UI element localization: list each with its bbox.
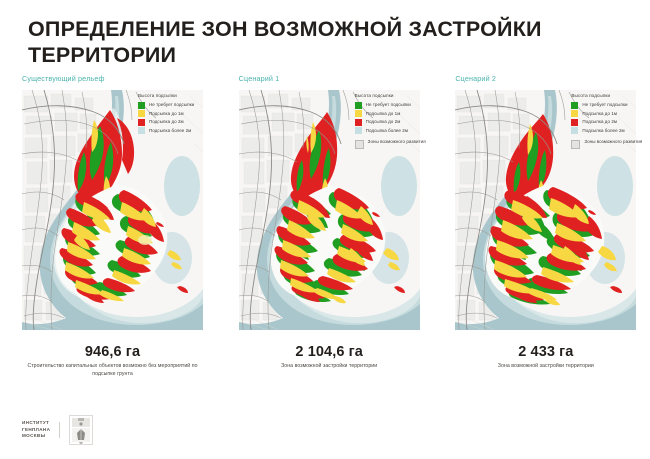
- legend-item-dev-zone: Зоны возможного развития: [355, 139, 447, 149]
- legend-item: Подсыпка более 2м: [355, 127, 447, 134]
- legend-swatch-over-2m: [571, 127, 578, 134]
- panel-caption: 2 433 га Зона возможной застройки террит…: [455, 344, 636, 371]
- page-title: ОПРЕДЕЛЕНИЕ ЗОН ВОЗМОЖНОЙ ЗАСТРОЙКИ ТЕРР…: [28, 16, 618, 68]
- map-legend: Высота подсыпки Не требует подсыпки Подс…: [355, 93, 447, 150]
- panel-label: Сценарий 1: [239, 74, 434, 84]
- panels-row: Существующий рельеф: [0, 74, 650, 378]
- legend-swatch-no-fill: [138, 102, 145, 109]
- legend-label: Не требует подсыпки: [582, 102, 627, 108]
- panel-label: Существующий рельеф: [22, 74, 217, 84]
- legend-title: Высота подсыпки: [571, 93, 650, 98]
- legend-label: Не требует подсыпки: [366, 102, 411, 108]
- legend-swatch-dev-zone: [355, 140, 364, 149]
- legend-swatch-up-to-2m: [138, 119, 145, 126]
- legend-item: Подсыпка до 2м: [355, 119, 447, 126]
- map-legend: Высота подсыпки Не требует подсыпки Подс…: [138, 93, 230, 136]
- legend-label: Подсыпка до 1м: [366, 111, 401, 117]
- area-value: 2 433 га: [455, 344, 636, 360]
- footer: ИНСТИТУТ ГЕНПЛАНА МОСКВЫ: [22, 415, 93, 445]
- moscow-coat-of-arms-icon: [69, 415, 93, 445]
- legend-item: Подсыпка до 1м: [355, 110, 447, 117]
- panel-existing-relief: Существующий рельеф: [22, 74, 217, 378]
- legend-label: Подсыпка до 2м: [582, 119, 617, 125]
- institute-wordmark: ИНСТИТУТ ГЕНПЛАНА МОСКВЫ: [22, 420, 50, 441]
- area-description: Зона возможной застройки территории: [239, 363, 420, 371]
- legend-swatch-no-fill: [571, 102, 578, 109]
- legend-label: Не требует подсыпки: [149, 102, 194, 108]
- panel-caption: 2 104,6 га Зона возможной застройки терр…: [239, 344, 420, 371]
- map-existing-relief[interactable]: Высота подсыпки Не требует подсыпки Подс…: [22, 90, 203, 330]
- footer-divider: [59, 422, 60, 438]
- area-description: Зона возможной застройки территории: [455, 363, 636, 371]
- legend-item: Не требует подсыпки: [571, 102, 650, 109]
- legend-label: Подсыпка более 2м: [582, 128, 624, 134]
- legend-swatch-up-to-2m: [355, 119, 362, 126]
- map-legend: Высота подсыпки Не требует подсыпки Подс…: [571, 93, 650, 150]
- legend-item: Подсыпка более 2м: [571, 127, 650, 134]
- legend-swatch-up-to-1m: [355, 110, 362, 117]
- legend-item: Подсыпка до 1м: [138, 110, 230, 117]
- area-value: 2 104,6 га: [239, 344, 420, 360]
- legend-item: Подсыпка более 2м: [138, 127, 230, 134]
- legend-swatch-up-to-1m: [138, 110, 145, 117]
- legend-label: Зоны возможного развития: [368, 139, 426, 145]
- legend-item: Не требует подсыпки: [355, 102, 447, 109]
- legend-swatch-no-fill: [355, 102, 362, 109]
- legend-item: Не требует подсыпки: [138, 102, 230, 109]
- legend-label: Подсыпка до 2м: [366, 119, 401, 125]
- legend-title: Высота подсыпки: [138, 93, 230, 98]
- map-scenario-2[interactable]: Высота подсыпки Не требует подсыпки Подс…: [455, 90, 636, 330]
- area-value: 946,6 га: [22, 344, 203, 360]
- legend-item: Подсыпка до 2м: [571, 119, 650, 126]
- panel-label: Сценарий 2: [455, 74, 650, 84]
- legend-swatch-over-2m: [138, 127, 145, 134]
- legend-swatch-over-2m: [355, 127, 362, 134]
- legend-swatch-up-to-1m: [571, 110, 578, 117]
- legend-title: Высота подсыпки: [355, 93, 447, 98]
- map-scenario-1[interactable]: Высота подсыпки Не требует подсыпки Подс…: [239, 90, 420, 330]
- panel-scenario-1: Сценарий 1: [239, 74, 434, 378]
- legend-item: Подсыпка до 1м: [571, 110, 650, 117]
- panel-scenario-2: Сценарий 2: [455, 74, 650, 378]
- panel-caption: 946,6 га Строительство капитальных объек…: [22, 344, 203, 378]
- legend-label: Подсыпка более 2м: [366, 128, 408, 134]
- legend-swatch-up-to-2m: [571, 119, 578, 126]
- legend-swatch-dev-zone: [571, 140, 580, 149]
- legend-item: Подсыпка до 2м: [138, 119, 230, 126]
- legend-label: Зоны возможного развития: [584, 139, 642, 145]
- area-description: Строительство капитальных объектов возмо…: [22, 363, 203, 378]
- legend-label: Подсыпка до 1м: [582, 111, 617, 117]
- legend-label: Подсыпка до 1м: [149, 111, 184, 117]
- legend-item-dev-zone: Зоны возможного развития: [571, 139, 650, 149]
- legend-label: Подсыпка до 2м: [149, 119, 184, 125]
- legend-label: Подсыпка более 2м: [149, 128, 191, 134]
